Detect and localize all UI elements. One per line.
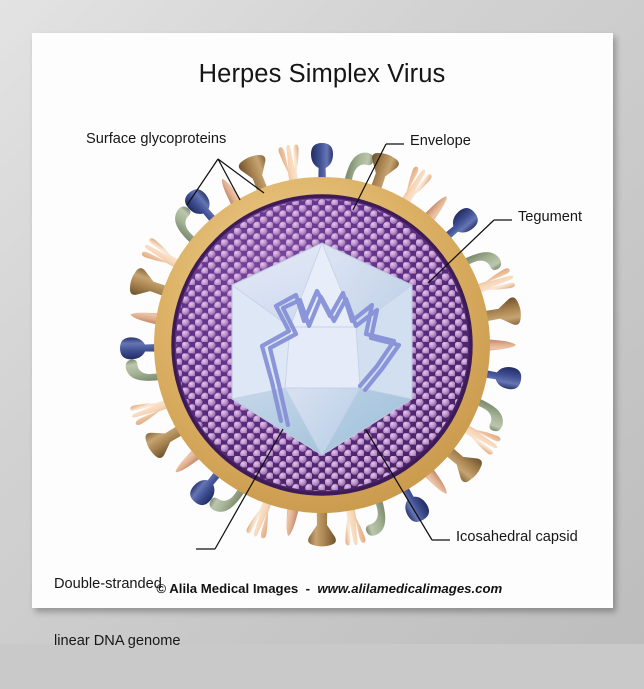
label-tegument: Tegument — [518, 209, 582, 225]
label-surface-glycoproteins: Surface glycoproteins — [86, 131, 226, 147]
label-dna-line2: linear DNA genome — [54, 632, 181, 651]
copyright-text: © Alila Medical Images — [156, 581, 298, 596]
label-envelope: Envelope — [410, 133, 471, 149]
credit-separator: - — [298, 581, 317, 596]
poster-stage: Herpes Simplex Virus Surface glycoprotei… — [0, 0, 644, 644]
credit-line: © Alila Medical Images - www.alilamedica… — [0, 566, 644, 611]
page-title: Herpes Simplex Virus — [0, 60, 644, 89]
label-dna-genome: Double-stranded linear DNA genome — [54, 537, 181, 689]
credit-url[interactable]: www.alilamedicalimages.com — [317, 581, 502, 596]
label-icosahedral-capsid: Icosahedral capsid — [456, 529, 578, 545]
